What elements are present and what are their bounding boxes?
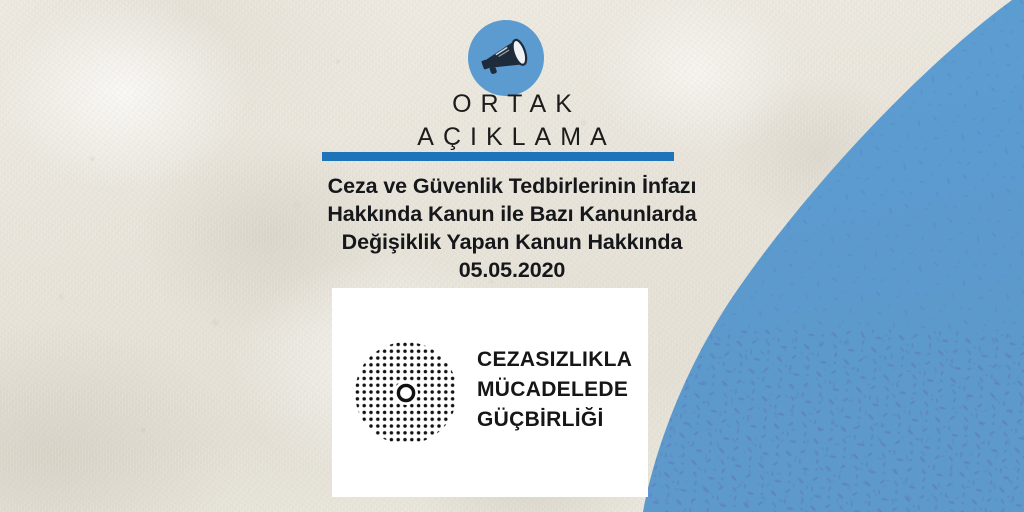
announcement-text: Ceza ve Güvenlik Tedbirlerinin İnfazı Ha… <box>0 172 1024 284</box>
logo-card: CEZASIZLIKLA MÜCADELEDE GÜÇBİRLİĞİ <box>332 288 648 497</box>
announcement-line-1: Ceza ve Güvenlik Tedbirlerinin İnfazı <box>0 172 1024 200</box>
title-line-2: AÇIKLAMA <box>0 121 1024 154</box>
announcement-date: 05.05.2020 <box>0 256 1024 284</box>
logo-word-line-3: GÜÇBİRLİĞİ <box>477 405 632 435</box>
title-divider-rule <box>322 152 674 161</box>
page-title: ORTAK AÇIKLAMA <box>0 88 1024 154</box>
dotted-circle-logo-icon <box>354 341 458 445</box>
logo-word-line-1: CEZASIZLIKLA <box>477 345 632 375</box>
megaphone-badge <box>468 20 544 96</box>
logo-word-line-2: MÜCADELEDE <box>477 375 632 405</box>
title-line-1: ORTAK <box>0 88 1024 121</box>
logo-wordmark: CEZASIZLIKLA MÜCADELEDE GÜÇBİRLİĞİ <box>477 345 632 435</box>
announcement-line-2: Hakkında Kanun ile Bazı Kanunlarda <box>0 200 1024 228</box>
poster-canvas: ORTAK AÇIKLAMA Ceza ve Güvenlik Tedbirle… <box>0 0 1024 512</box>
announcement-line-3: Değişiklik Yapan Kanun Hakkında <box>0 228 1024 256</box>
